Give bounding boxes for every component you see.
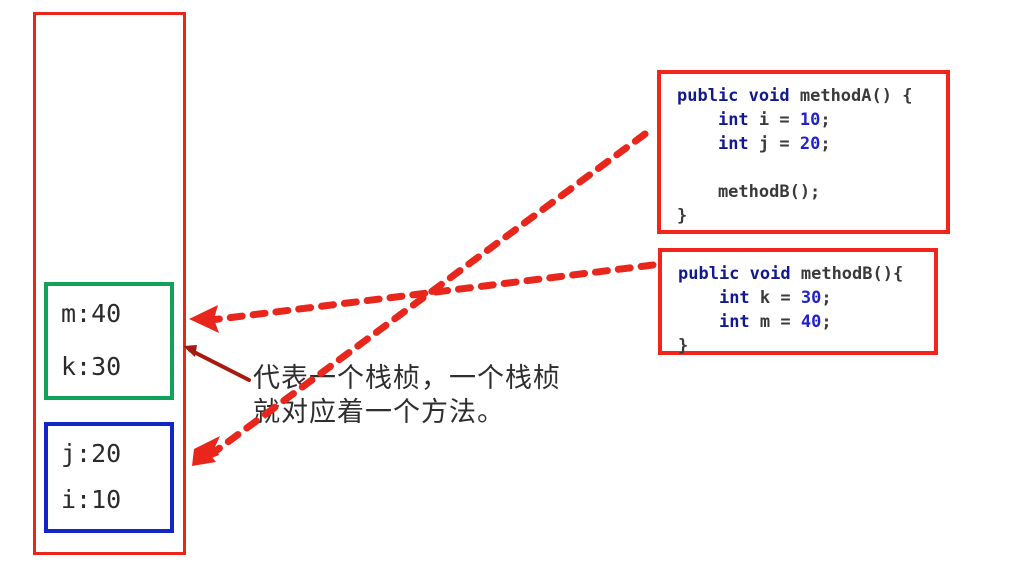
code-line: int k = 30; xyxy=(678,286,924,310)
code-line xyxy=(677,156,936,180)
code-token-id xyxy=(677,134,718,154)
annotation-to-top-frame-arrow xyxy=(183,345,249,380)
code-block-methodA[interactable]: public void methodA() { int i = 10; int … xyxy=(657,70,950,234)
code-token-id: } xyxy=(677,206,687,226)
code-block-methodB[interactable]: public void methodB(){ int k = 30; int m… xyxy=(658,248,938,355)
stack-frame-methodB[interactable]: m:40 k:30 xyxy=(44,282,174,400)
code-token-id: m = xyxy=(750,312,801,332)
code-line: public void methodA() { xyxy=(677,84,936,108)
code-token-kw: void xyxy=(749,86,790,106)
code-block-methodA-lines: public void methodA() { int i = 10; int … xyxy=(677,84,936,228)
code-token-id xyxy=(739,264,749,284)
code-token-id: k = xyxy=(750,288,801,308)
code-token-kw: int xyxy=(719,312,750,332)
stack-slot-i: i:10 xyxy=(48,486,170,514)
stack-slot-k: k:30 xyxy=(48,353,170,381)
code-token-kw: int xyxy=(718,134,749,154)
annotation-line-2: 就对应着一个方法。 xyxy=(253,396,613,430)
code-token-id: ; xyxy=(820,110,830,130)
code-token-id xyxy=(677,110,718,130)
code-token-id xyxy=(738,86,748,106)
code-token-num: 40 xyxy=(801,312,821,332)
code-token-num: 30 xyxy=(801,288,821,308)
code-token-id: methodB(); xyxy=(677,182,820,202)
code-line: int m = 40; xyxy=(678,310,924,334)
code-token-id xyxy=(677,158,687,178)
diagram-canvas: m:40 k:30 j:20 i:10 public void methodA(… xyxy=(0,0,1012,567)
code-token-kw: void xyxy=(750,264,791,284)
code-line: int i = 10; xyxy=(677,108,936,132)
code-line: int j = 20; xyxy=(677,132,936,156)
code-block-methodB-lines: public void methodB(){ int k = 30; int m… xyxy=(678,262,924,358)
code-token-id: j = xyxy=(749,134,800,154)
code-token-id: i = xyxy=(749,110,800,130)
code-token-id: methodA() { xyxy=(790,86,913,106)
code-token-id: } xyxy=(678,336,688,356)
code-token-id: methodB(){ xyxy=(791,264,904,284)
code-line: } xyxy=(677,204,936,228)
code-line: methodB(); xyxy=(677,180,936,204)
code-token-num: 10 xyxy=(800,110,820,130)
annotation-line-1: 代表一个栈桢，一个栈桢 xyxy=(253,362,613,396)
code-token-id: ; xyxy=(820,134,830,154)
code-token-kw: int xyxy=(718,110,749,130)
code-line: public void methodB(){ xyxy=(678,262,924,286)
code-token-kw: public xyxy=(678,264,739,284)
code-token-id xyxy=(678,312,719,332)
code-token-id: ; xyxy=(821,312,831,332)
code-token-id xyxy=(678,288,719,308)
stack-slot-m: m:40 xyxy=(48,300,170,328)
code-token-kw: int xyxy=(719,288,750,308)
code-line: } xyxy=(678,334,924,358)
stack-frame-methodA[interactable]: j:20 i:10 xyxy=(44,422,174,533)
code-token-id: ; xyxy=(821,288,831,308)
code-token-num: 20 xyxy=(800,134,820,154)
code-token-kw: public xyxy=(677,86,738,106)
stack-slot-j: j:20 xyxy=(48,440,170,468)
annotation-text: 代表一个栈桢，一个栈桢 就对应着一个方法。 xyxy=(253,362,613,430)
methodB-to-top-frame-arrow xyxy=(189,265,653,333)
